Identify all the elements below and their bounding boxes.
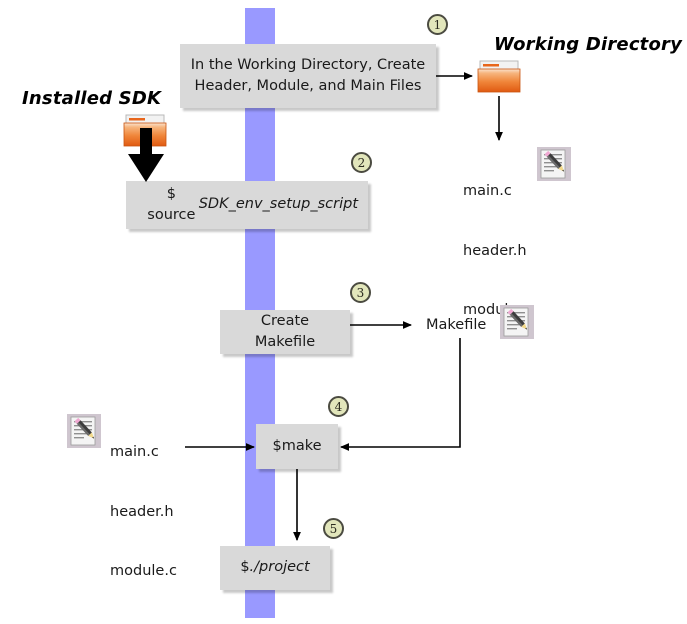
step-number-2: 2 [351,152,372,173]
file-main-c: main.c [463,182,530,202]
box-source-script[interactable]: $ source SDK_env_setup_script [126,181,368,229]
file-module-c: module.c [110,562,177,582]
step-number-3: 3 [350,282,371,303]
box-create-files-line2: Header, Module, and Main Files [191,76,425,97]
makefile-label: Makefile [426,316,486,336]
heading-working-directory: Working Directory [494,34,682,55]
heading-installed-sdk: Installed SDK [22,88,161,109]
make-input-file-list: main.c header.h module.c [110,404,177,621]
sdk-down-arrow [122,128,170,184]
run-command-name: ./project [250,557,310,578]
file-header-h: header.h [110,503,177,523]
document-edit-icon [500,305,534,339]
box-create-files[interactable]: In the Working Directory, Create Header,… [180,44,436,108]
folder-icon [477,60,523,94]
step-number-5: 5 [323,518,344,539]
run-command-prefix: $ [240,557,249,578]
box-make-label: $make [272,436,321,457]
source-script-name: SDK_env_setup_script [199,194,358,215]
file-header-h: header.h [463,242,530,262]
document-edit-icon [67,414,101,448]
box-create-makefile[interactable]: Create Makefile [220,310,350,354]
box-make[interactable]: $make [256,424,338,469]
step-number-1: 1 [427,14,448,35]
document-edit-icon [537,147,571,181]
step-number-4: 4 [328,396,349,417]
source-command-prefix: $ source [144,184,199,226]
file-main-c: main.c [110,443,177,463]
box-create-files-line1: In the Working Directory, Create [191,55,425,76]
box-run-project[interactable]: $ ./project [220,546,330,590]
diagram-canvas: Installed SDK Working Directory [0,0,687,624]
box-create-makefile-label: Create Makefile [230,311,340,353]
